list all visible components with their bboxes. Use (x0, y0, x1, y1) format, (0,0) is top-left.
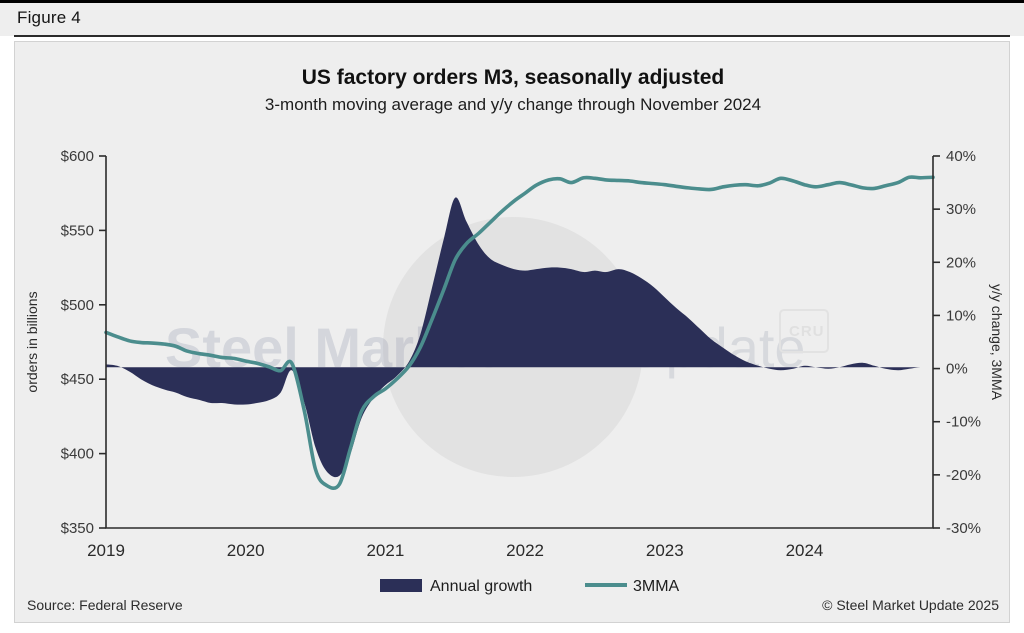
figure-label: Figure 4 (17, 8, 81, 28)
chart-card: US factory orders M3, seasonally adjuste… (14, 41, 1010, 623)
y-axis-tick-label: $450 (61, 371, 94, 388)
x-axis-tick-label: 2023 (646, 541, 684, 560)
y2-axis-title: y/y change, 3MMA (989, 284, 1005, 401)
y2-axis-tick-label: 10% (946, 307, 976, 324)
cru-badge-label: CRU (789, 323, 825, 340)
legend-label-annual-growth[interactable]: Annual growth (430, 578, 532, 595)
y2-axis-tick-label: -10% (946, 414, 981, 431)
figure-header-bar: Figure 4 (0, 3, 1024, 36)
x-axis-tick-label: 2021 (366, 541, 404, 560)
figure-page: Figure 4 US factory orders M3, seasonall… (0, 0, 1024, 633)
y2-axis-tick-label: 40% (946, 148, 976, 165)
y-axis-tick-label: $400 (61, 446, 94, 463)
header-divider (14, 35, 1010, 37)
y-axis-tick-label: $600 (61, 148, 94, 165)
y2-axis-tick-label: 0% (946, 361, 968, 378)
y2-axis-tick-label: -20% (946, 467, 981, 484)
y-axis-title: orders in billions (24, 291, 40, 392)
y-axis-tick-label: $550 (61, 222, 94, 239)
chart-svg: Steel Market Update CRU $350$400$450$500… (15, 42, 1011, 624)
legend-layer[interactable]: Annual growth3MMA (380, 578, 680, 595)
x-axis-tick-label: 2019 (87, 541, 125, 560)
legend-swatch-annual-growth[interactable] (380, 579, 422, 592)
legend-label-3mma[interactable]: 3MMA (633, 578, 680, 595)
copyright-note: © Steel Market Update 2025 (822, 597, 999, 613)
y2-axis-tick-label: -30% (946, 520, 981, 537)
x-axis-tick-label: 2024 (786, 541, 824, 560)
y2-axis-tick-label: 20% (946, 254, 976, 271)
x-axis-tick-label: 2020 (227, 541, 265, 560)
x-axis-tick-label: 2022 (506, 541, 544, 560)
y-axis-tick-label: $350 (61, 520, 94, 537)
y2-axis-tick-label: 30% (946, 201, 976, 218)
source-note: Source: Federal Reserve (27, 597, 183, 613)
y-axis-tick-label: $500 (61, 297, 94, 314)
